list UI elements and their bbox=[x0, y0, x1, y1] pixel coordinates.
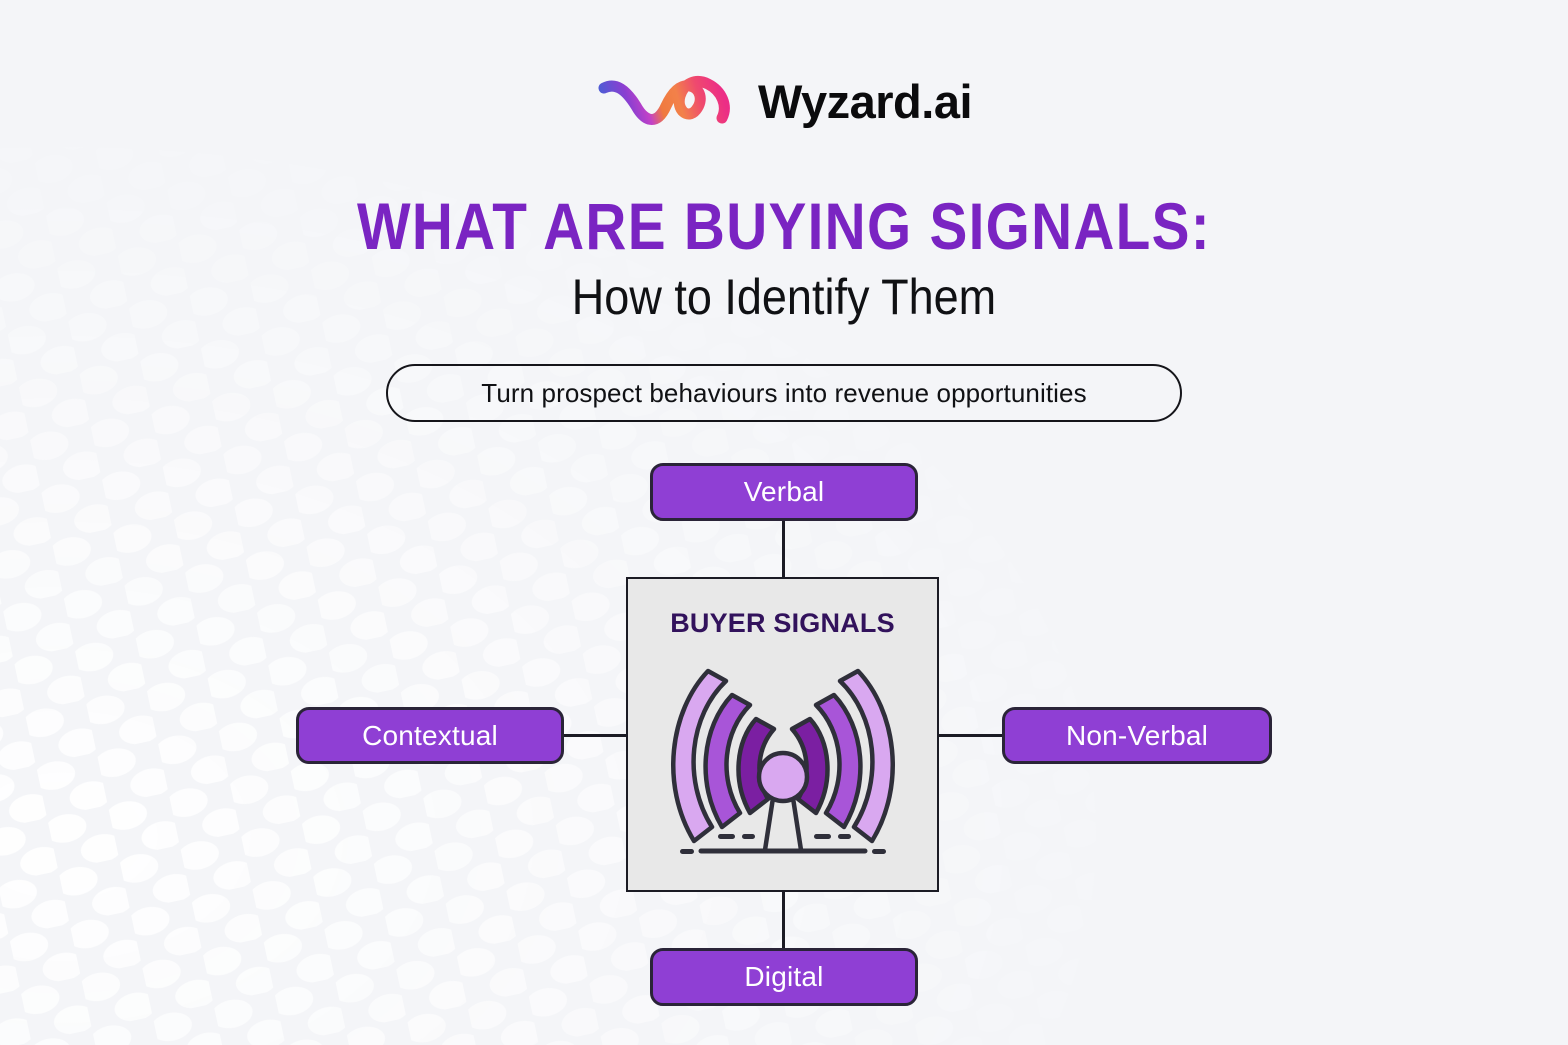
connector-non-verbal bbox=[938, 734, 1004, 737]
node-verbal[interactable]: Verbal bbox=[650, 463, 918, 521]
node-non-verbal[interactable]: Non-Verbal bbox=[1002, 707, 1272, 764]
center-card-title: BUYER SIGNALS bbox=[628, 608, 937, 639]
broadcast-tower-signal-icon bbox=[668, 667, 898, 872]
center-card-buyer-signals[interactable]: BUYER SIGNALS bbox=[626, 577, 939, 892]
connector-verbal bbox=[782, 519, 785, 579]
connector-contextual bbox=[562, 734, 628, 737]
node-digital[interactable]: Digital bbox=[650, 948, 918, 1006]
node-contextual[interactable]: Contextual bbox=[296, 707, 564, 764]
poster-canvas: Wyzard.ai WHAT ARE BUYING SIGNALS: How t… bbox=[0, 0, 1568, 1045]
buyer-signals-diagram: Verbal Contextual Non-Verbal Digital BUY… bbox=[0, 0, 1568, 1045]
connector-digital bbox=[782, 890, 785, 950]
